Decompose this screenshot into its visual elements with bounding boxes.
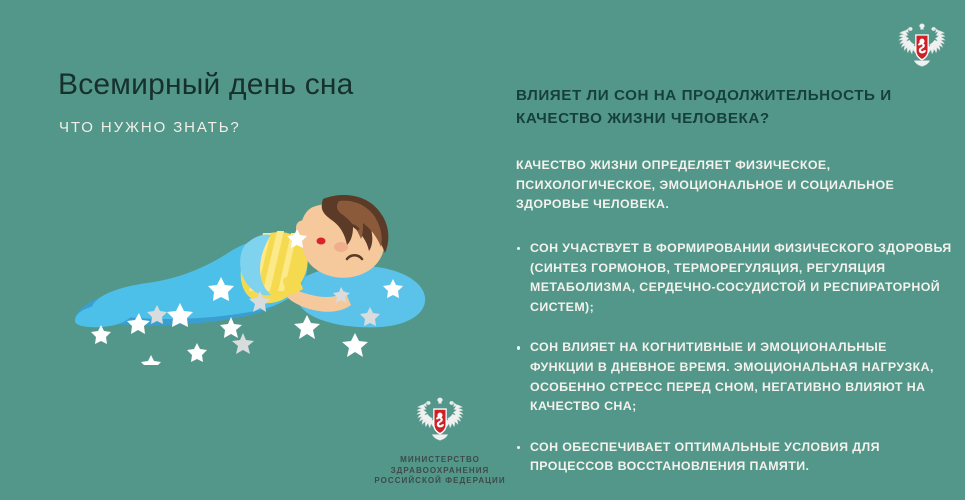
sleeping-child-illustration [55,185,455,365]
list-item: СОН УЧАСТВУЕТ В ФОРМИРОВАНИИ ФИЗИЧЕСКОГО… [516,239,952,317]
ministry-emblem-icon [408,392,472,450]
section-heading: ВЛИЯЕТ ЛИ СОН НА ПРОДОЛЖИТЕЛЬНОСТЬ И КАЧ… [516,84,952,130]
list-item-text: СОН ВЛИЯЕТ НА КОГНИТИВНЫЕ И ЭМОЦИОНАЛЬНЫ… [530,340,934,413]
bullet-dot-icon [517,247,520,250]
facts-list: СОН УЧАСТВУЕТ В ФОРМИРОВАНИИ ФИЗИЧЕСКОГО… [516,239,952,477]
ministry-emblem-icon [891,16,953,78]
head [296,195,388,278]
bullet-dot-icon [517,346,520,349]
right-column: ВЛИЯЕТ ЛИ СОН НА ПРОДОЛЖИТЕЛЬНОСТЬ И КАЧ… [516,84,952,477]
ministry-caption-line-1: МИНИСТЕРСТВО [350,455,530,466]
list-item-text: СОН УЧАСТВУЕТ В ФОРМИРОВАНИИ ФИЗИЧЕСКОГО… [530,241,952,314]
ministry-caption-line-3: РОССИЙСКОЙ ФЕДЕРАЦИИ [350,476,530,487]
ministry-caption-line-2: ЗДРАВООХРАНЕНИЯ [350,466,530,477]
list-item: СОН ВЛИЯЕТ НА КОГНИТИВНЫЕ И ЭМОЦИОНАЛЬНЫ… [516,338,952,416]
page-title: Всемирный день сна [58,68,354,102]
bullet-dot-icon [517,446,520,449]
left-column: Всемирный день сна ЧТО НУЖНО ЗНАТЬ? [0,0,500,500]
list-item-text: СОН ОБЕСПЕЧИВАЕТ ОПТИМАЛЬНЫЕ УСЛОВИЯ ДЛЯ… [530,440,880,474]
ministry-caption: МИНИСТЕРСТВО ЗДРАВООХРАНЕНИЯ РОССИЙСКОЙ … [350,455,530,487]
section-intro: КАЧЕСТВО ЖИЗНИ ОПРЕДЕЛЯЕТ ФИЗИЧЕСКОЕ, ПС… [516,156,952,215]
poster-canvas: Всемирный день сна ЧТО НУЖНО ЗНАТЬ? [0,0,965,500]
page-subtitle: ЧТО НУЖНО ЗНАТЬ? [59,119,241,136]
ministry-logo: МИНИСТЕРСТВО ЗДРАВООХРАНЕНИЯ РОССИЙСКОЙ … [350,392,530,487]
list-item: СОН ОБЕСПЕЧИВАЕТ ОПТИМАЛЬНЫЕ УСЛОВИЯ ДЛЯ… [516,438,952,477]
